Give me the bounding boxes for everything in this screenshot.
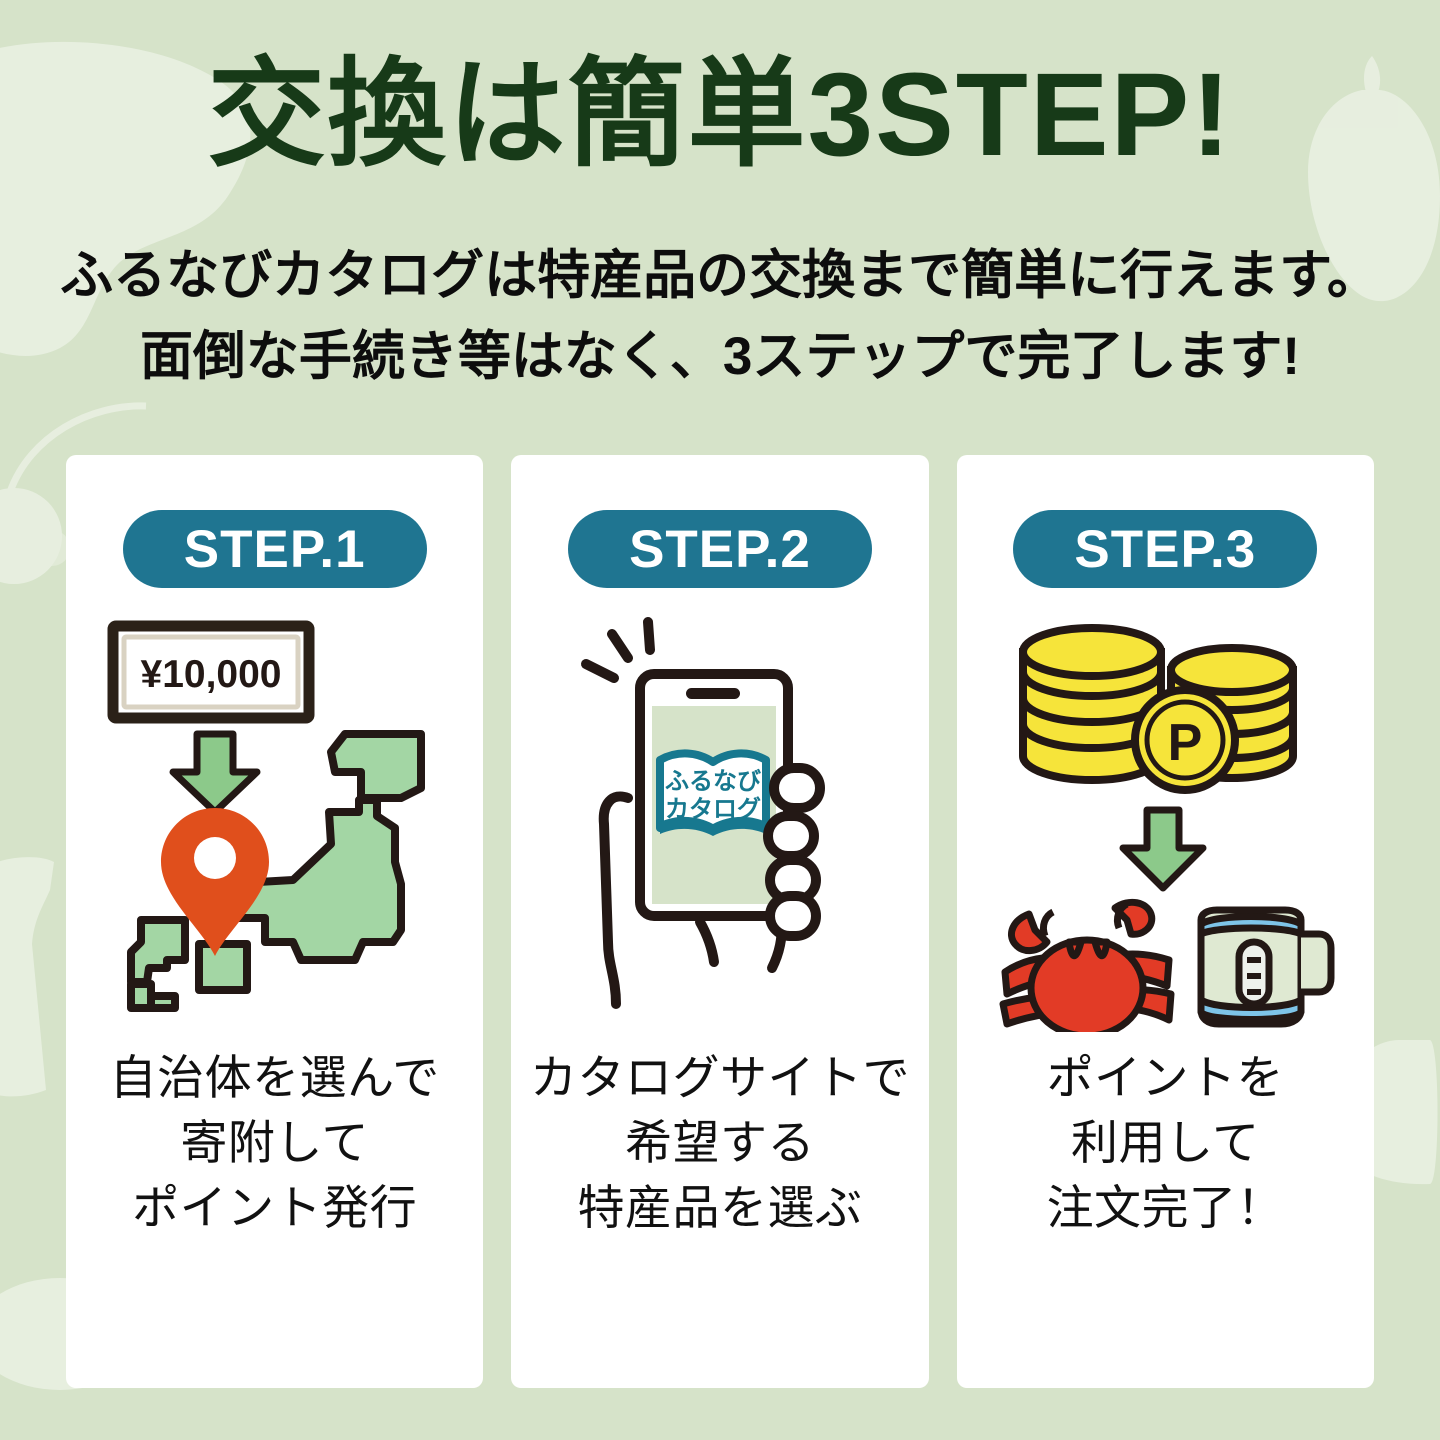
banknote-amount: ¥10,000 xyxy=(140,653,281,696)
step-card-1[interactable]: STEP.1 ¥10,000 xyxy=(66,455,483,1388)
step-2-caption-line-3: 特産品を選ぶ xyxy=(530,1176,910,1241)
point-coin-label: P xyxy=(1168,714,1203,772)
step-badge-2: STEP.2 xyxy=(568,510,872,588)
step-1-illustration: ¥10,000 xyxy=(105,612,445,1032)
step-3-caption-line-1: ポイントを xyxy=(1047,1046,1285,1111)
down-arrow-icon xyxy=(1123,810,1203,888)
kettle-icon xyxy=(1201,910,1331,1024)
step-3-caption-line-3: 注文完了！ xyxy=(1047,1176,1285,1241)
logo-line-1: ふるなび xyxy=(665,768,761,795)
step-card-3[interactable]: STEP.3 xyxy=(957,455,1374,1388)
step-badge-1: STEP.1 xyxy=(123,510,427,588)
step-1-caption-line-2: 寄附して xyxy=(110,1111,440,1176)
fingers-icon xyxy=(768,768,820,936)
step-2-caption-line-2: 希望する xyxy=(530,1111,910,1176)
crab-icon xyxy=(1003,902,1171,1032)
step-3-illustration: P xyxy=(995,612,1335,1032)
furunavi-catalog-logo: ふるなび カタログ xyxy=(660,753,766,836)
step-caption-3: ポイントを 利用して 注文完了！ xyxy=(1047,1046,1285,1241)
step-caption-1: 自治体を選んで 寄附して ポイント発行 xyxy=(110,1046,440,1241)
step-card-2[interactable]: STEP.2 xyxy=(511,455,928,1388)
down-arrow-icon xyxy=(173,734,257,812)
milk-bottle-silhouette xyxy=(0,857,54,1096)
subtitle-line-1: ふるなびカタログは特産品の交換まで簡単に行えます。 xyxy=(0,236,1440,317)
banknote-icon: ¥10,000 xyxy=(113,626,309,718)
poster-canvas: 交換は簡単3STEP! ふるなびカタログは特産品の交換まで簡単に行えます。 面倒… xyxy=(0,0,1440,1440)
step-1-caption-line-3: ポイント発行 xyxy=(110,1176,440,1241)
step-3-caption-line-2: 利用して xyxy=(1047,1111,1285,1176)
logo-line-2: カタログ xyxy=(665,796,761,823)
step-2-caption-line-1: カタログサイトで xyxy=(530,1046,910,1111)
page-subtitle: ふるなびカタログは特産品の交換まで簡単に行えます。 面倒な手続き等はなく、3ステ… xyxy=(0,236,1440,397)
subtitle-line-2: 面倒な手続き等はなく、3ステップで完了します! xyxy=(0,317,1440,398)
step-1-caption-line-1: 自治体を選んで xyxy=(110,1046,440,1111)
motion-lines-icon xyxy=(586,622,650,678)
step-caption-2: カタログサイトで 希望する 特産品を選ぶ xyxy=(530,1046,910,1241)
steps-container: STEP.1 ¥10,000 xyxy=(66,455,1374,1388)
page-title: 交換は簡単3STEP! xyxy=(0,52,1440,179)
step-badge-3: STEP.3 xyxy=(1013,510,1317,588)
step-2-illustration: ふるなび カタログ xyxy=(550,612,890,1032)
point-coin-icon: P xyxy=(1135,690,1235,790)
